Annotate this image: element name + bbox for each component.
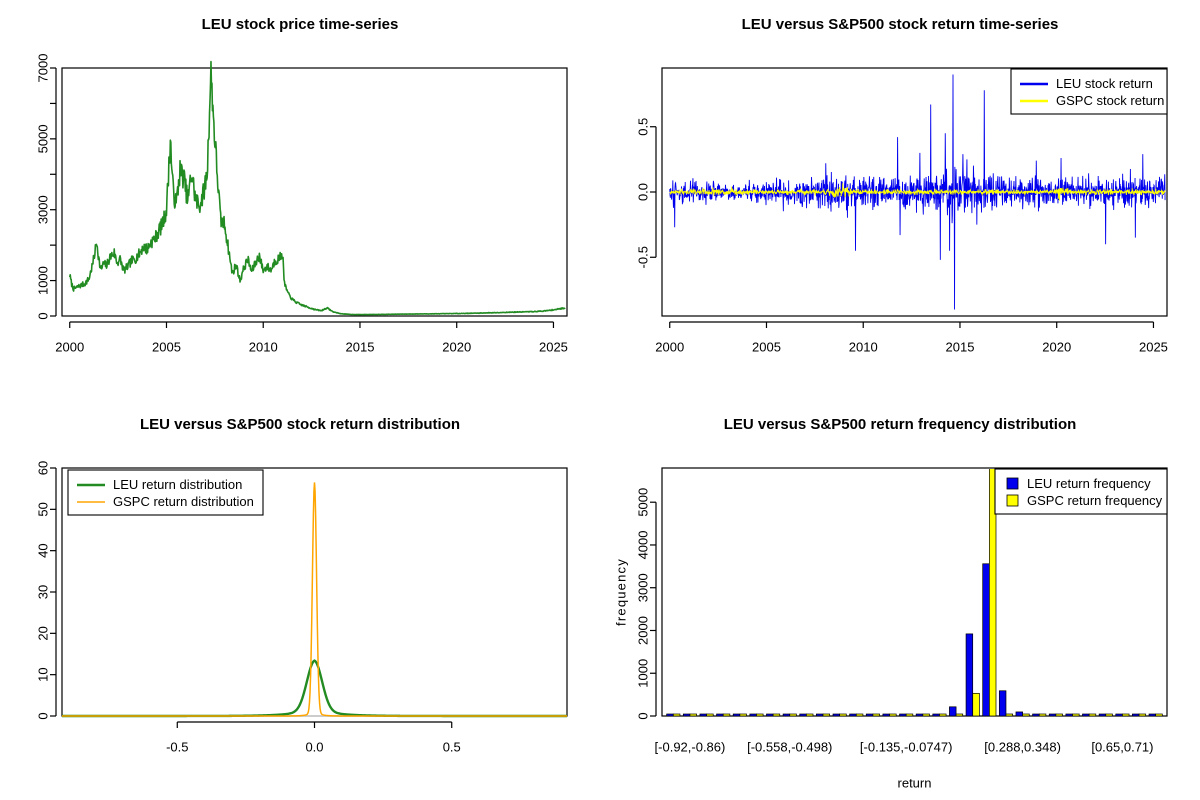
bar-leu-frequency	[1149, 714, 1156, 716]
y-tick-label: 20	[35, 626, 50, 640]
x-tick-label: 2010	[849, 340, 878, 355]
bar-leu-frequency	[816, 714, 823, 716]
bar-gspc-frequency	[707, 714, 714, 716]
bar-gspc-frequency	[1106, 714, 1113, 716]
bar-leu-frequency	[1033, 714, 1040, 716]
bar-gspc-frequency	[1122, 714, 1129, 716]
x-tick-label: 2015	[946, 340, 975, 355]
legend-swatch-square	[1007, 495, 1018, 506]
bar-leu-frequency	[1049, 714, 1056, 716]
plot-frame	[62, 68, 567, 316]
bar-gspc-frequency	[823, 714, 830, 716]
bar-leu-frequency	[883, 714, 890, 716]
bar-gspc-frequency	[856, 714, 863, 716]
legend-return-density: LEU return distributionGSPC return distr…	[68, 470, 263, 515]
panel-leu-gspc-return-density: LEU versus S&P500 stock return distribut…	[0, 400, 600, 800]
x-tick-label: 2010	[249, 340, 278, 355]
bar-leu-frequency	[783, 714, 790, 716]
x-tick-label: [0.65,0.71)	[1091, 740, 1153, 755]
bar-gspc-frequency	[1039, 714, 1046, 716]
plot-leu-price-timeseries: 0100030005000700020002005201020152020202…	[0, 0, 600, 400]
bar-gspc-frequency	[1023, 714, 1030, 716]
x-tick-label: 2000	[655, 340, 684, 355]
y-tick-label: 0	[635, 712, 650, 719]
bar-gspc-frequency	[1139, 714, 1146, 716]
plot-return-timeseries: -0.50.00.5200020052010201520202025LEU st…	[600, 0, 1200, 400]
bar-gspc-frequency	[840, 714, 847, 716]
bar-gspc-frequency	[1089, 714, 1096, 716]
bar-gspc-frequency	[906, 714, 913, 716]
bar-leu-frequency	[900, 714, 907, 716]
y-tick-label: 0	[35, 712, 50, 719]
y-axis-title: frequency	[613, 558, 628, 626]
bar-leu-frequency	[866, 714, 873, 716]
plot-return-frequency: 010002000300040005000frequency[-0.92,-0.…	[600, 400, 1200, 800]
bar-leu-frequency	[733, 714, 740, 716]
x-tick-label: [0.288,0.348)	[984, 740, 1061, 755]
bar-gspc-frequency	[790, 714, 797, 716]
bar-leu-frequency	[833, 714, 840, 716]
legend-label: GSPC return distribution	[113, 494, 254, 509]
bar-gspc-frequency	[1006, 714, 1013, 716]
bar-gspc-frequency	[939, 714, 946, 716]
bar-leu-frequency	[850, 714, 857, 716]
bar-gspc-frequency	[1156, 714, 1163, 716]
bar-leu-frequency	[1116, 714, 1123, 716]
y-tick-label: 0	[35, 312, 50, 319]
bar-gspc-frequency	[673, 714, 680, 716]
figure-canvas: LEU stock price time-series 010003000500…	[0, 0, 1200, 800]
y-tick-label: 5000	[635, 488, 650, 517]
bar-leu-frequency	[966, 634, 973, 716]
x-tick-label: [-0.135,-0.0747)	[860, 740, 953, 755]
x-tick-label: [-0.558,-0.498)	[747, 740, 832, 755]
y-tick-label: 4000	[635, 531, 650, 560]
bar-gspc-frequency	[956, 714, 963, 716]
bar-leu-frequency	[949, 707, 956, 716]
bar-leu-frequency	[933, 714, 940, 716]
legend-label: LEU return frequency	[1027, 476, 1151, 491]
bar-gspc-frequency	[690, 714, 697, 716]
bar-gspc-frequency	[740, 714, 747, 716]
x-axis-title: return	[898, 776, 932, 791]
bar-leu-frequency	[700, 714, 707, 716]
legend-return-frequency: LEU return frequencyGSPC return frequenc…	[995, 469, 1167, 514]
bar-gspc-frequency	[756, 714, 763, 716]
panel-leu-gspc-return-frequency: LEU versus S&P500 return frequency distr…	[600, 400, 1200, 800]
legend-return-timeseries: LEU stock returnGSPC stock return	[1011, 69, 1167, 114]
x-tick-label: 2005	[152, 340, 181, 355]
bar-leu-frequency	[1099, 714, 1106, 716]
y-tick-label: 30	[35, 585, 50, 599]
plot-return-density: 0102030405060-0.50.00.5LEU return distri…	[0, 400, 600, 800]
bar-leu-frequency	[1083, 714, 1090, 716]
bar-gspc-frequency	[806, 714, 813, 716]
bar-leu-frequency	[800, 714, 807, 716]
legend-label: LEU return distribution	[113, 477, 242, 492]
y-tick-label: 60	[35, 461, 50, 475]
panel-leu-price-timeseries: LEU stock price time-series 010003000500…	[0, 0, 600, 400]
bar-gspc-frequency	[1056, 714, 1063, 716]
bar-leu-frequency	[983, 564, 990, 716]
bar-leu-frequency	[717, 714, 724, 716]
bar-gspc-frequency	[973, 693, 980, 716]
bar-leu-frequency	[683, 714, 690, 716]
panel-leu-gspc-return-timeseries: LEU versus S&P500 stock return time-seri…	[600, 0, 1200, 400]
y-tick-label: 40	[35, 543, 50, 557]
bar-leu-frequency	[1016, 712, 1023, 716]
bar-leu-frequency	[1132, 714, 1139, 716]
legend-swatch-square	[1007, 478, 1018, 489]
y-tick-label: 50	[35, 502, 50, 516]
x-tick-label: 2025	[539, 340, 568, 355]
y-tick-label: 3000	[35, 195, 50, 224]
bar-leu-frequency	[1066, 714, 1073, 716]
bar-leu-frequency	[999, 691, 1006, 716]
y-tick-label: 5000	[35, 124, 50, 153]
series-leu-return-density	[62, 661, 567, 716]
y-tick-label: 0.5	[635, 118, 650, 136]
bar-leu-frequency	[750, 714, 757, 716]
series-gspc-return-density	[62, 482, 567, 716]
y-tick-label: 10	[35, 667, 50, 681]
y-tick-label: 1000	[635, 659, 650, 688]
x-tick-label: 2020	[1042, 340, 1071, 355]
x-tick-label: -0.5	[166, 740, 188, 755]
bar-leu-frequency	[667, 714, 674, 716]
x-tick-label: 2000	[55, 340, 84, 355]
x-tick-label: 2020	[442, 340, 471, 355]
legend-label: LEU stock return	[1056, 76, 1153, 91]
legend-label: GSPC stock return	[1056, 93, 1164, 108]
bar-leu-frequency	[766, 714, 773, 716]
x-tick-label: 2015	[346, 340, 375, 355]
bar-gspc-frequency	[923, 714, 930, 716]
y-tick-label: 1000	[35, 266, 50, 295]
x-tick-label: 0.5	[443, 740, 461, 755]
y-tick-label: 7000	[35, 54, 50, 83]
bar-gspc-frequency	[723, 714, 730, 716]
bar-gspc-frequency	[773, 714, 780, 716]
y-tick-label: -0.5	[635, 246, 650, 268]
x-tick-label: [-0.92,-0.86)	[655, 740, 726, 755]
x-tick-label: 2025	[1139, 340, 1168, 355]
legend-label: GSPC return frequency	[1027, 493, 1163, 508]
y-tick-label: 0.0	[635, 183, 650, 201]
bar-leu-frequency	[916, 714, 923, 716]
bar-gspc-frequency	[1073, 714, 1080, 716]
bar-gspc-frequency	[873, 714, 880, 716]
x-tick-label: 0.0	[305, 740, 323, 755]
x-tick-label: 2005	[752, 340, 781, 355]
series-leu-stock-price	[70, 62, 565, 315]
bar-gspc-frequency	[890, 714, 897, 716]
y-tick-label: 2000	[635, 616, 650, 645]
y-tick-label: 3000	[635, 573, 650, 602]
